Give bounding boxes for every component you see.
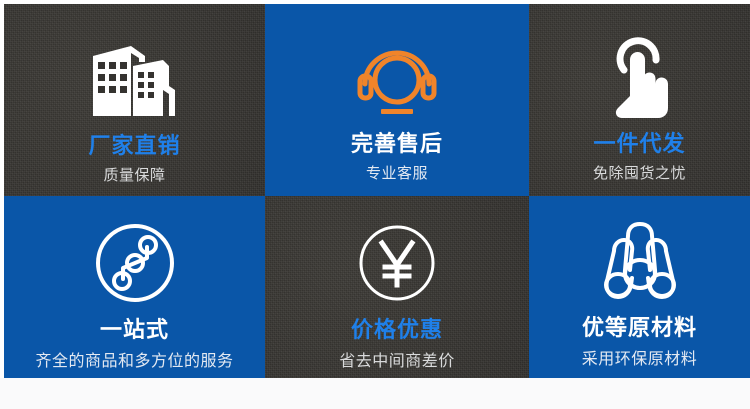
yen-circle-icon [265, 196, 529, 314]
steel-pipes-icon [529, 196, 750, 312]
feature-title: 价格优惠 [351, 318, 443, 342]
feature-card-one-stop-service[interactable]: 一站式 齐全的商品和多方位的服务 [4, 196, 265, 378]
bottom-blank-strip [0, 378, 750, 409]
network-nodes-circle-icon [4, 196, 265, 314]
tap-hand-icon [529, 4, 750, 130]
feature-card-favourable-price[interactable]: 价格优惠 省去中间商差价 [265, 196, 529, 378]
feature-title: 完善售后 [351, 132, 443, 156]
buildings-icon [4, 4, 265, 132]
feature-subtitle: 免除囤货之忧 [593, 165, 686, 183]
feature-card-after-sales-service[interactable]: 完善售后 专业客服 [265, 4, 529, 196]
feature-subtitle: 采用环保原材料 [582, 350, 698, 369]
feature-subtitle: 质量保障 [103, 167, 165, 185]
feature-title: 厂家直销 [88, 134, 180, 158]
feature-card-factory-direct-sales[interactable]: 厂家直销 质量保障 [4, 4, 265, 196]
feature-grid: 厂家直销 质量保障 完善售后 专业客服 [4, 4, 750, 378]
feature-title: 优等原材料 [582, 316, 697, 340]
feature-subtitle: 齐全的商品和多方位的服务 [35, 352, 233, 371]
feature-title: 一站式 [100, 318, 169, 342]
feature-card-one-piece-dropshipping[interactable]: 一件代发 免除囤货之忧 [529, 4, 750, 196]
feature-title: 一件代发 [593, 132, 685, 156]
feature-subtitle: 省去中间商差价 [339, 352, 455, 371]
feature-card-premium-raw-materials[interactable]: 优等原材料 采用环保原材料 [529, 196, 750, 378]
headset-icon [265, 4, 529, 130]
feature-subtitle: 专业客服 [366, 165, 428, 183]
